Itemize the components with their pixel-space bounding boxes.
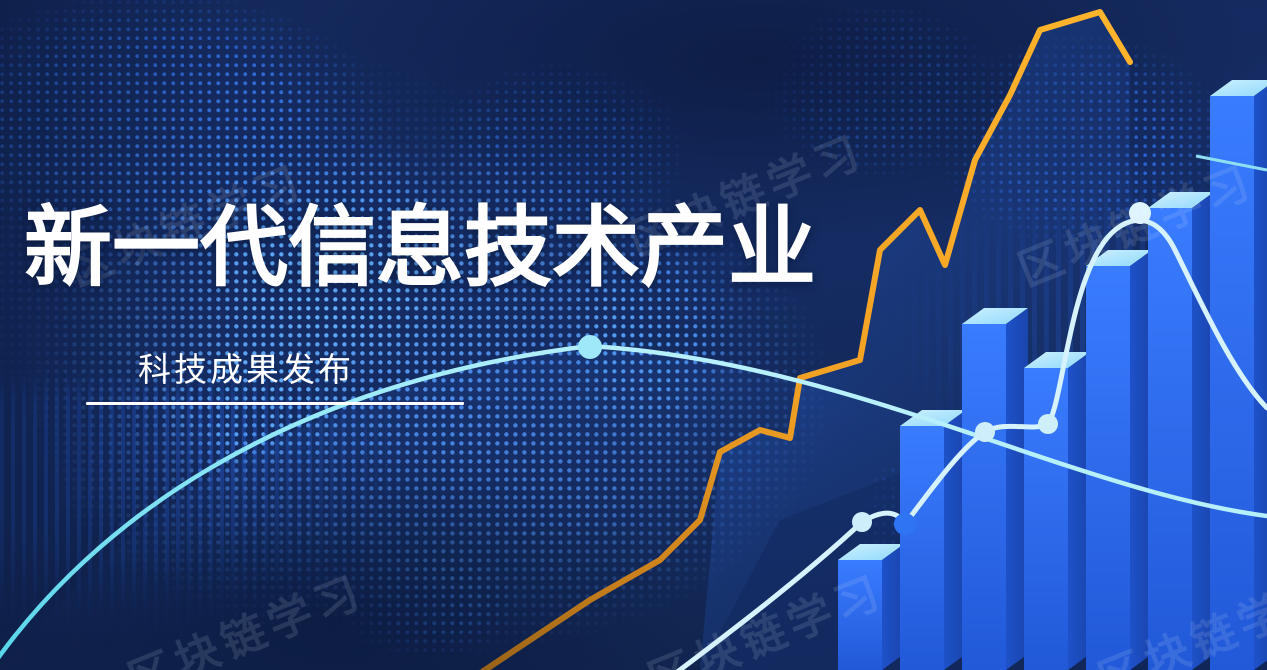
bar-3d-2 (900, 410, 966, 670)
accent-dot (894, 513, 916, 535)
chart-artwork (0, 0, 1267, 670)
page-subtitle: 科技成果发布 (138, 353, 354, 386)
poster-canvas: 区块链学习区块链学习区块链学习区块链学习区块链学习区块链学习 新一代信息技术产业… (0, 0, 1267, 670)
bar-3d-3 (962, 308, 1028, 670)
page-title: 新一代信息技术产业 (24, 204, 816, 292)
title-divider (86, 402, 464, 405)
bar-3d-5 (1086, 250, 1152, 670)
cyan-arc-marker (578, 335, 602, 359)
